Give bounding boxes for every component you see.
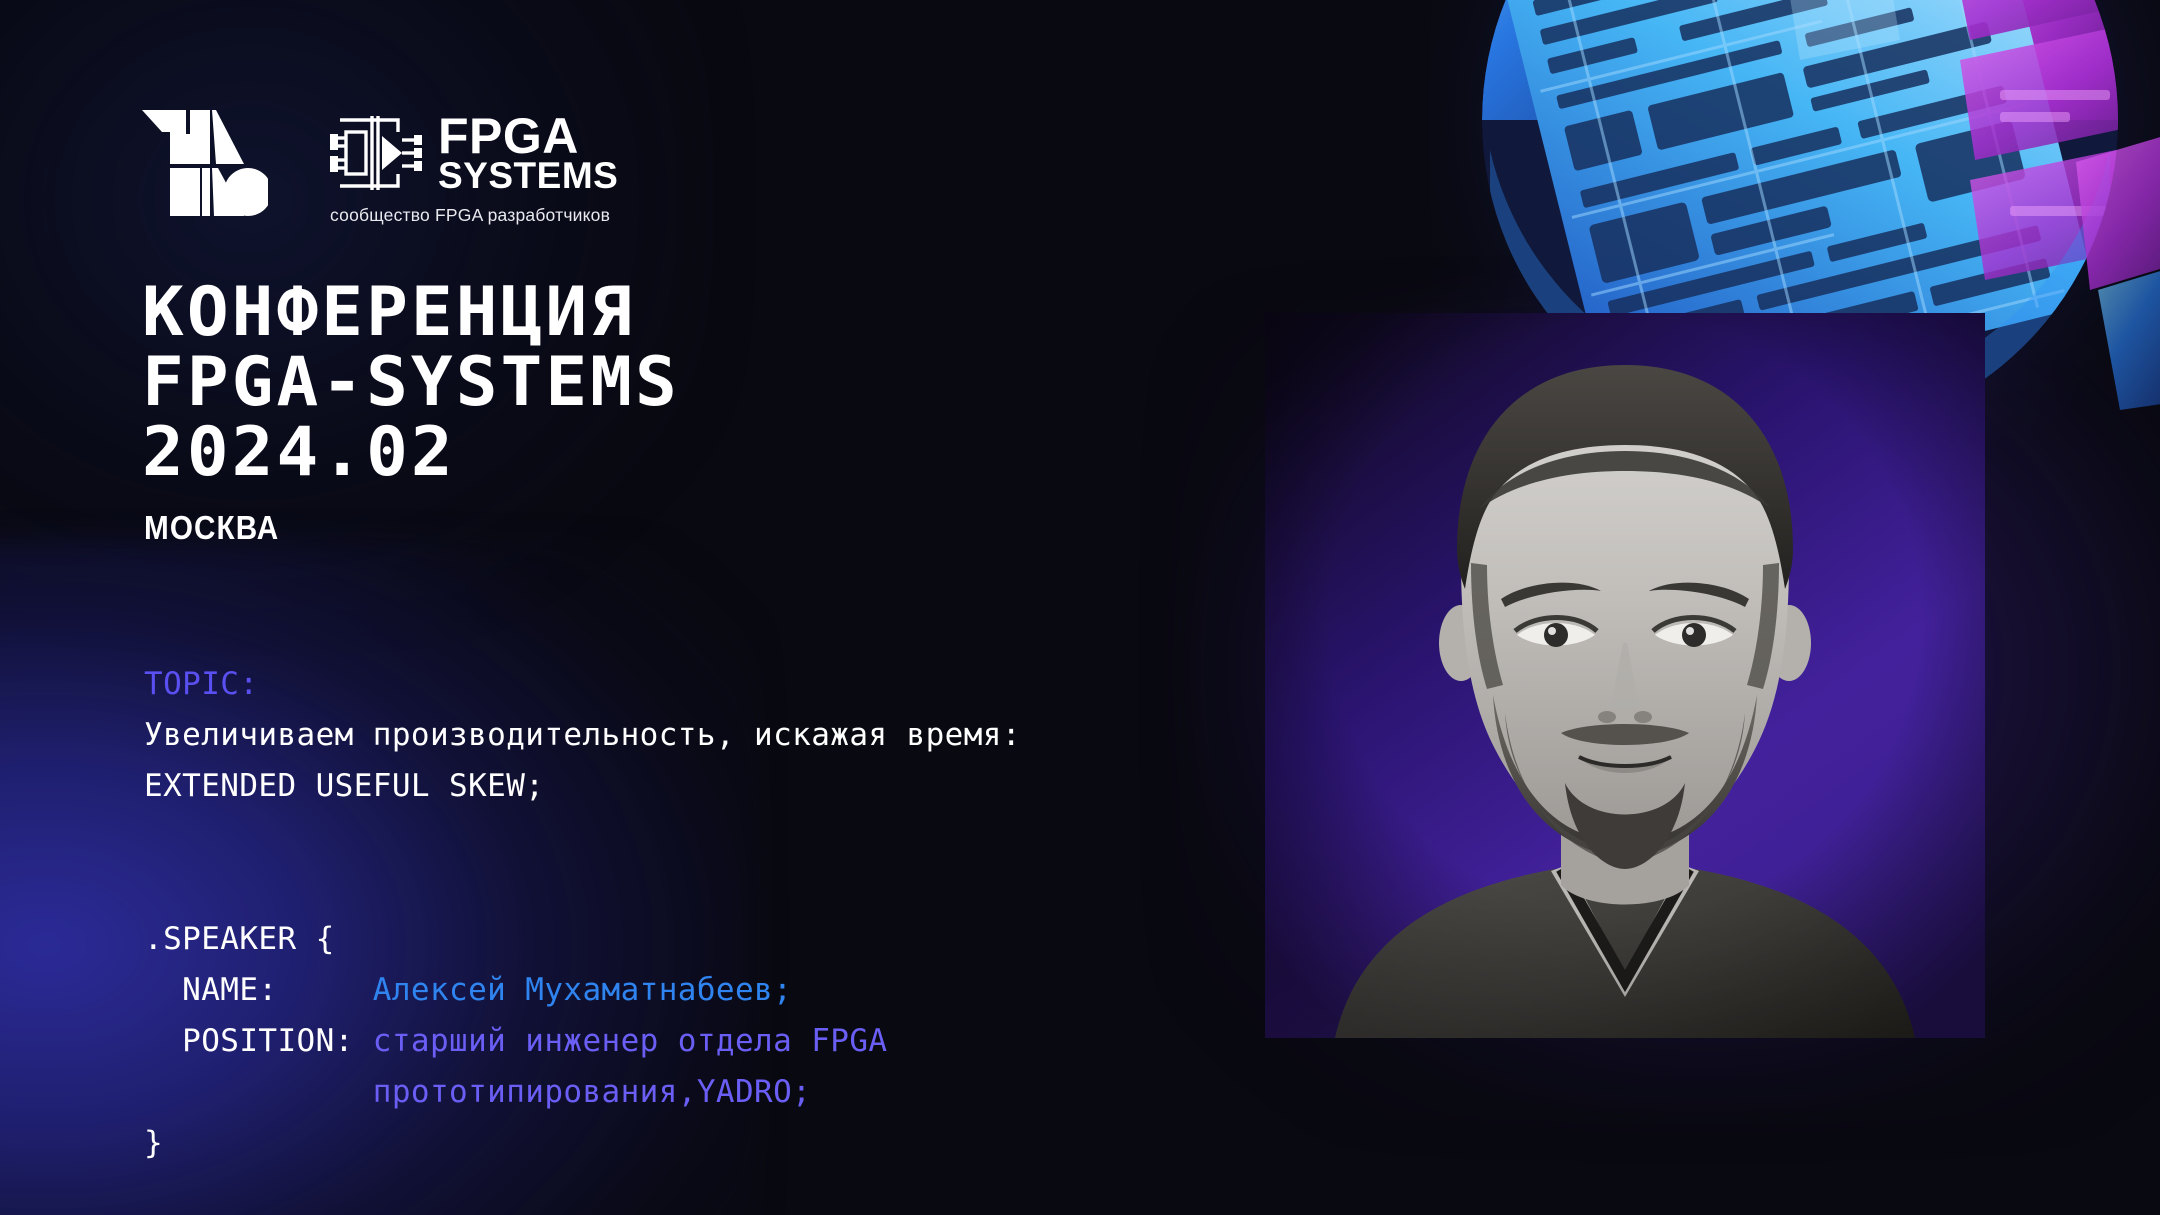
fpga-chip-icon <box>328 110 424 196</box>
speaker-selector-close: } <box>144 1125 163 1161</box>
fpga-word-bottom: SYSTEMS <box>438 159 618 193</box>
headline-line-3: 2024.02 <box>142 418 680 488</box>
conference-title-slide: FPGA SYSTEMS сообщество FPGA разработчик… <box>0 0 2160 1215</box>
topic-line-1: Увеличиваем производительность, искажая … <box>144 717 1021 753</box>
speaker-position-terminator: ; <box>792 1074 811 1110</box>
topic-line-2: EXTENDED USEFUL SKEW; <box>144 768 544 804</box>
fpga-tagline: сообщество FPGA разработчиков <box>330 205 610 226</box>
yadro-logo-icon <box>140 108 268 218</box>
speaker-position-value-2: прототипирования,YADRO <box>373 1074 792 1110</box>
page-title: КОНФЕРЕНЦИЯ FPGA-SYSTEMS 2024.02 <box>142 278 669 488</box>
speaker-name-value: Алексей Мухаматнабеев <box>373 972 773 1008</box>
fpga-word-top: FPGA <box>438 113 618 160</box>
speaker-position-key: POSITION: <box>144 1023 373 1059</box>
headline-line-1: КОНФЕРЕНЦИЯ <box>142 278 680 348</box>
speaker-code-block: TOPIC: Увеличиваем производительность, и… <box>144 608 1021 1169</box>
topic-label: TOPIC: <box>144 666 258 702</box>
headline-line-2: FPGA-SYSTEMS <box>142 348 680 418</box>
speaker-portrait-icon <box>1265 313 1985 1038</box>
speaker-name-key: NAME: <box>144 972 373 1008</box>
event-city: МОСКВА <box>144 509 279 547</box>
speaker-position-indent <box>144 1074 373 1110</box>
speaker-selector-open: .SPEAKER { <box>144 921 335 957</box>
speaker-name-terminator: ; <box>773 972 792 1008</box>
logo-row: FPGA SYSTEMS сообщество FPGA разработчик… <box>140 108 618 226</box>
code-blank-line <box>144 812 1021 863</box>
speaker-position-value-1: старший инженер отдела FPGA <box>373 1023 888 1059</box>
fpga-systems-logo: FPGA SYSTEMS сообщество FPGA разработчик… <box>328 108 618 226</box>
